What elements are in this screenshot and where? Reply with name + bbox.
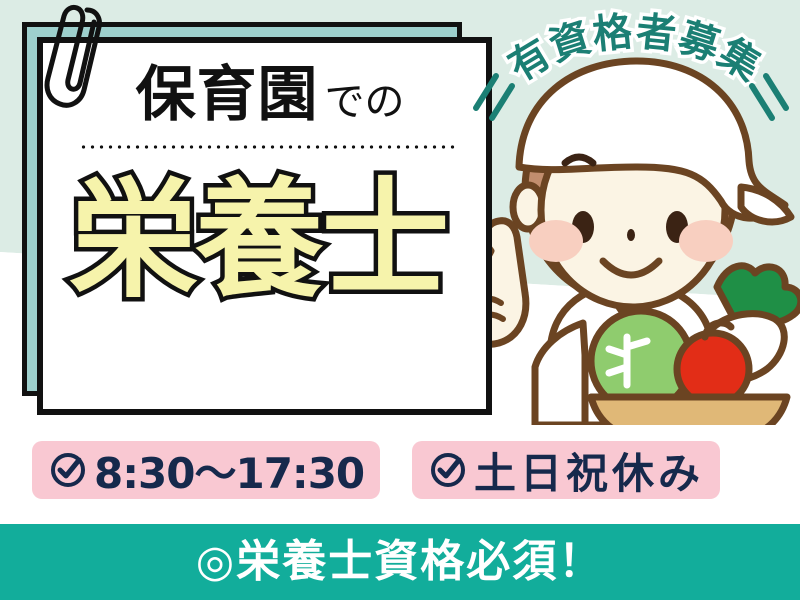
days-off-label: 土日祝休み <box>474 440 704 501</box>
character-nose <box>627 229 635 241</box>
dotted-divider <box>79 145 459 149</box>
character-bandana-tail <box>741 187 791 222</box>
check-circle-icon <box>48 450 88 490</box>
card-title-main: 保育園 <box>136 65 319 125</box>
paperclip-icon <box>30 0 110 108</box>
character-cheek-right <box>679 220 733 262</box>
check-circle-icon <box>428 450 468 490</box>
requirement-text: ◎栄養士資格必須！ <box>196 540 604 584</box>
arc-label: 有資格者募集 <box>470 0 800 126</box>
arc-decoration-left <box>476 76 512 118</box>
working-hours-badge: 8:30〜17:30 <box>32 441 380 499</box>
card-headline: 栄養士 <box>37 177 480 305</box>
character-cheek-left <box>529 220 583 262</box>
character-left-arm <box>535 323 585 425</box>
bowl <box>591 397 787 425</box>
card-title: 保育園 での <box>75 65 465 125</box>
condition-badges: 8:30〜17:30 土日祝休み <box>0 437 800 509</box>
job-ad-banner: 保育園 での 栄養士 有資格者募集 <box>0 0 800 600</box>
days-off-badge: 土日祝休み <box>412 441 720 499</box>
arc-label-text: 有資格者募集 <box>501 9 769 91</box>
card-title-suffix: での <box>325 82 405 122</box>
requirement-bar: ◎栄養士資格必須！ <box>0 524 800 600</box>
arc-decoration-right <box>752 76 786 118</box>
working-hours-label: 8:30〜17:30 <box>94 440 364 501</box>
